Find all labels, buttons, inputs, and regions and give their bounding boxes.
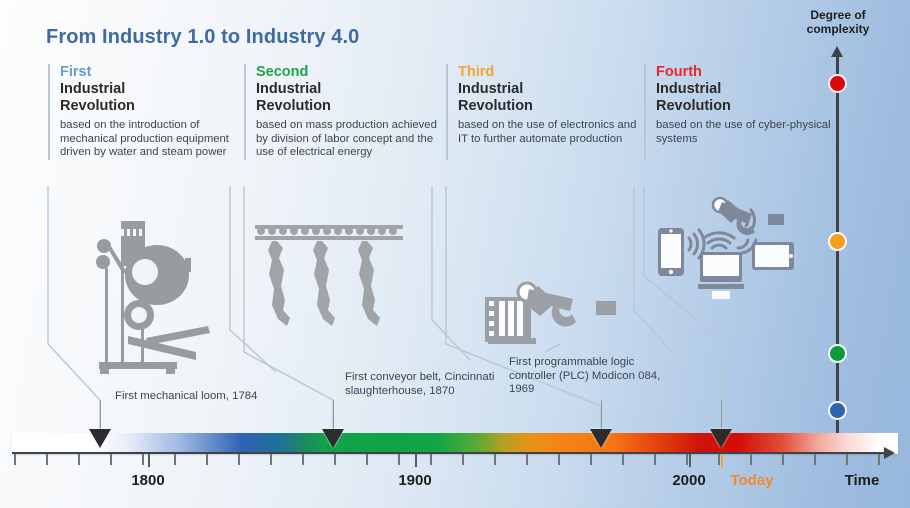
leader-line-plc bbox=[545, 344, 560, 352]
timeline-marker-fourth-revolution-stem bbox=[721, 400, 722, 430]
column-rule bbox=[48, 64, 50, 160]
complexity-axis-line bbox=[836, 56, 839, 454]
timeline-tick bbox=[302, 454, 304, 465]
timeline-tick bbox=[110, 454, 112, 465]
timeline-tick bbox=[718, 454, 720, 465]
timeline-tick bbox=[558, 454, 560, 465]
timeline-tick-today bbox=[721, 454, 723, 467]
timeline-tick bbox=[494, 454, 496, 465]
revolution-description: based on mass production achieved by div… bbox=[256, 119, 440, 160]
timeline-marker-fourth-revolution bbox=[710, 429, 732, 448]
timeline-tick bbox=[526, 454, 528, 465]
panel-edge-second bbox=[432, 186, 470, 360]
revolution-column-third: Third Industrial Revolution based on the… bbox=[446, 64, 642, 146]
revolution-line3: Revolution bbox=[656, 98, 840, 115]
timeline-tick bbox=[686, 454, 688, 465]
timeline-tick bbox=[430, 454, 432, 465]
revolution-line2: Industrial bbox=[60, 81, 244, 98]
revolution-line2: Industrial bbox=[458, 81, 642, 98]
degree-label-line2: complexity bbox=[807, 22, 870, 36]
timeline-label-1900: 1900 bbox=[398, 472, 431, 489]
timeline-tick bbox=[654, 454, 656, 465]
revolution-column-fourth: Fourth Industrial Revolution based on th… bbox=[644, 64, 840, 146]
column-rule bbox=[644, 64, 646, 160]
timeline-tick bbox=[846, 454, 848, 465]
first-revolution-dot bbox=[828, 401, 847, 420]
revolution-ordinal: Second bbox=[256, 64, 440, 80]
annotation-conveyor-belt: First conveyor belt, Cincinnati slaughte… bbox=[345, 371, 505, 398]
timeline-marker-second-revolution bbox=[322, 429, 344, 448]
timeline-marker-third-revolution-stem bbox=[601, 400, 602, 430]
timeline-tick bbox=[142, 454, 144, 465]
timeline-tick bbox=[366, 454, 368, 465]
degree-of-complexity-label: Degree of complexity bbox=[790, 8, 886, 36]
fourth-revolution-dot bbox=[828, 74, 847, 93]
revolution-description: based on the use of electronics and IT t… bbox=[458, 119, 642, 146]
timeline-tick bbox=[462, 454, 464, 465]
degree-label-line1: Degree of bbox=[810, 8, 865, 22]
timeline-tick bbox=[14, 454, 16, 465]
timeline-tick bbox=[334, 454, 336, 465]
timeline-tick bbox=[78, 454, 80, 465]
timeline-tick bbox=[814, 454, 816, 465]
panel-edge-first bbox=[230, 186, 276, 372]
timeline-label-1800: 1800 bbox=[131, 472, 164, 489]
column-rule bbox=[446, 64, 448, 160]
timeline-tick-major bbox=[689, 454, 691, 467]
timeline-label-time: Time bbox=[845, 472, 880, 489]
timeline-tick bbox=[270, 454, 272, 465]
annotation-plc: First programmable logic controller (PLC… bbox=[509, 356, 684, 397]
timeline-tick bbox=[46, 454, 48, 465]
revolution-column-second: Second Industrial Revolution based on ma… bbox=[244, 64, 440, 160]
revolution-line3: Revolution bbox=[458, 98, 642, 115]
timeline-tick bbox=[398, 454, 400, 465]
revolution-description: based on the use of cyber-physical syste… bbox=[656, 119, 840, 146]
revolution-ordinal: Third bbox=[458, 64, 642, 80]
timeline-tick bbox=[878, 454, 880, 465]
timeline-gradient-bar bbox=[12, 433, 898, 454]
timeline-tick bbox=[206, 454, 208, 465]
revolution-ordinal: Fourth bbox=[656, 64, 840, 80]
timeline-marker-first-revolution bbox=[89, 429, 111, 448]
timeline-tick bbox=[622, 454, 624, 465]
timeline-marker-third-revolution bbox=[590, 429, 612, 448]
timeline-marker-first-revolution-stem bbox=[100, 400, 101, 430]
timeline-label-today: Today bbox=[730, 472, 773, 489]
timeline-marker-second-revolution-stem bbox=[333, 400, 334, 430]
timeline-tick-major bbox=[148, 454, 150, 467]
timeline-label-2000: 2000 bbox=[672, 472, 705, 489]
revolution-column-first: First Industrial Revolution based on the… bbox=[48, 64, 244, 160]
second-revolution-dot bbox=[828, 344, 847, 363]
timeline-tick bbox=[750, 454, 752, 465]
revolution-line3: Revolution bbox=[256, 98, 440, 115]
revolution-line2: Industrial bbox=[656, 81, 840, 98]
timeline-tick bbox=[782, 454, 784, 465]
leader-line-first bbox=[48, 186, 100, 429]
third-revolution-dot bbox=[828, 232, 847, 251]
timeline-axis-arrow bbox=[884, 447, 895, 459]
infographic-canvas: From Industry 1.0 to Industry 4.0 bbox=[0, 0, 910, 508]
timeline-tick bbox=[590, 454, 592, 465]
timeline-tick-major bbox=[415, 454, 417, 467]
column-rule bbox=[244, 64, 246, 160]
revolution-line2: Industrial bbox=[256, 81, 440, 98]
annotation-loom: First mechanical loom, 1784 bbox=[115, 390, 257, 404]
timeline-tick bbox=[238, 454, 240, 465]
timeline-tick bbox=[174, 454, 176, 465]
revolution-description: based on the introduction of mechanical … bbox=[60, 119, 244, 160]
revolution-ordinal: First bbox=[60, 64, 244, 80]
revolution-line3: Revolution bbox=[60, 98, 244, 115]
